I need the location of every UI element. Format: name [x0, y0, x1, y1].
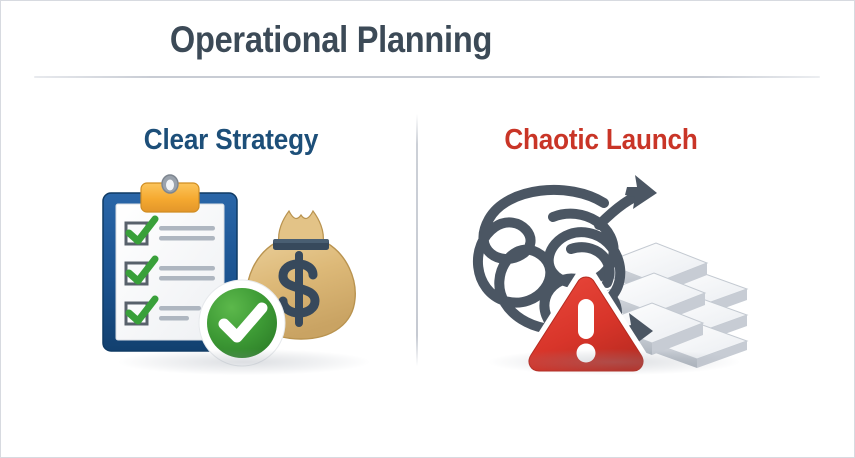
clipboard-checklist-moneybag-graphic [79, 171, 409, 371]
illustration-clear-strategy [79, 171, 409, 371]
slide-canvas: Operational Planning Clear Strategy Chao… [0, 0, 855, 458]
title-divider-rule [34, 76, 820, 78]
column-divider [416, 114, 418, 366]
column-heading-clear-strategy: Clear Strategy [78, 124, 384, 157]
clipboard-clip-icon [141, 175, 199, 212]
illustration-shadow-right [489, 349, 740, 375]
tangled-scribble-papers-warning-graphic [449, 171, 779, 371]
column-heading-chaotic-launch: Chaotic Launch [448, 124, 754, 157]
page-title: Operational Planning [41, 19, 622, 61]
illustration-shadow-left [119, 349, 370, 375]
illustration-chaotic-launch [449, 171, 779, 371]
